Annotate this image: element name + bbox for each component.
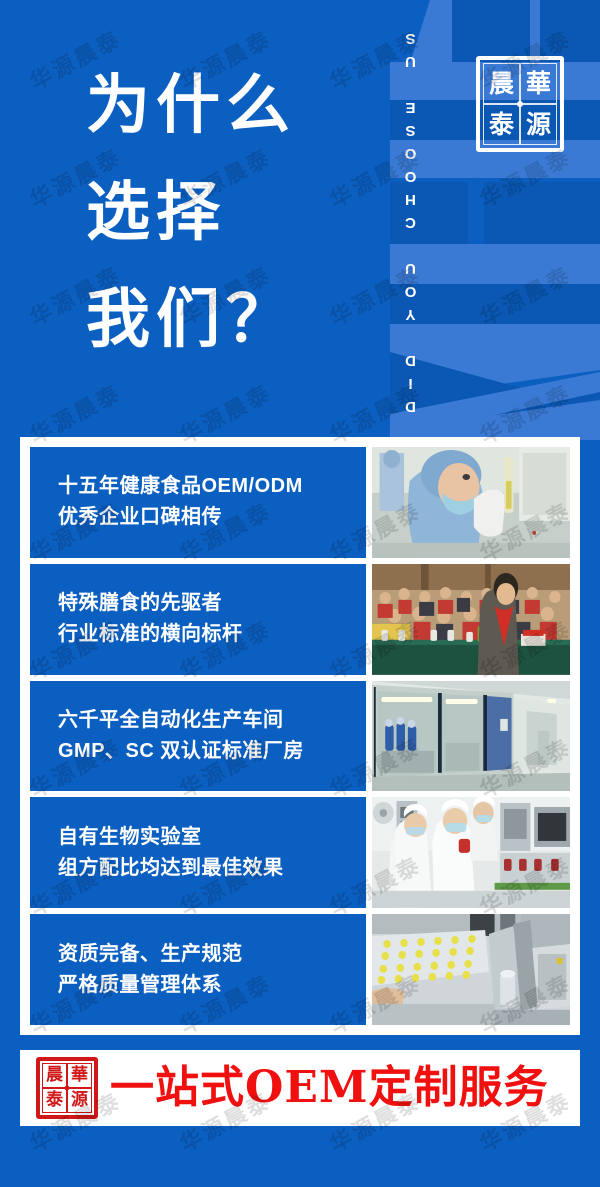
feature-cards-frame: 十五年健康食品OEM/ODM 优秀企业口碑相传	[20, 437, 580, 1035]
card-line-2: 行业标准的横向标杆	[58, 619, 366, 650]
card-text-block: 特殊膳食的先驱者 行业标准的横向标杆	[30, 564, 366, 675]
seal-char-2: 華	[67, 1063, 92, 1088]
banner-headline: 一站式OEM定制服务	[110, 1066, 549, 1110]
photo-cleanroom-svg	[372, 681, 570, 792]
seal-char-1: 晨	[483, 63, 520, 104]
seal-char-3: 泰	[42, 1088, 67, 1113]
seal-char-4: 源	[520, 104, 557, 145]
poster-root: 为什么 选择 我们？ DID YOU CHOOSE US 晨 華 泰 源 十五年…	[0, 0, 600, 1187]
feature-card: 自有生物实验室 组方配比均达到最佳效果	[30, 797, 570, 908]
card-text-block: 自有生物实验室 组方配比均达到最佳效果	[30, 797, 366, 908]
header-section: 为什么 选择 我们？ DID YOU CHOOSE US 晨 華 泰 源	[0, 0, 600, 437]
brand-seal-red: 晨 華 泰 源	[36, 1057, 98, 1119]
feature-card: 资质完备、生产规范 严格质量管理体系	[30, 914, 570, 1025]
photo-production-line-svg	[372, 797, 570, 908]
vertical-english-subtitle: DID YOU CHOOSE US	[402, 20, 428, 420]
page-title: 为什么 选择 我们？	[86, 52, 386, 373]
card-photo-conference-audience	[372, 564, 570, 675]
card-line-1: 六千平全自动化生产车间	[58, 705, 366, 736]
card-text-block: 十五年健康食品OEM/ODM 优秀企业口碑相传	[30, 447, 366, 558]
card-line-2: 组方配比均达到最佳效果	[58, 853, 366, 884]
card-photo-lab-technician	[372, 447, 570, 558]
title-line-3: 我们？	[86, 266, 386, 373]
seal-char-2: 華	[520, 63, 557, 104]
card-photo-production-line-workers	[372, 797, 570, 908]
photo-lab-technician-svg	[372, 447, 570, 558]
photo-conference-svg	[372, 564, 570, 675]
seal-center-dot	[65, 1086, 70, 1091]
card-text-block: 资质完备、生产规范 严格质量管理体系	[30, 914, 366, 1025]
card-line-2: 优秀企业口碑相传	[58, 502, 366, 533]
card-line-1: 十五年健康食品OEM/ODM	[58, 471, 366, 502]
card-photo-cleanroom-corridor	[372, 681, 570, 792]
card-photo-blister-packaging	[372, 914, 570, 1025]
card-text-block: 六千平全自动化生产车间 GMP、SC 双认证标准厂房	[30, 681, 366, 792]
card-line-1: 资质完备、生产规范	[58, 939, 366, 970]
card-line-1: 特殊膳食的先驱者	[58, 588, 366, 619]
seal-char-1: 晨	[42, 1063, 67, 1088]
seal-center-dot	[517, 101, 523, 107]
title-line-1: 为什么	[86, 52, 386, 159]
feature-card: 特殊膳食的先驱者 行业标准的横向标杆	[30, 564, 570, 675]
seal-char-4: 源	[67, 1088, 92, 1113]
photo-blister-packaging-svg	[372, 914, 570, 1025]
brand-seal-white: 晨 華 泰 源	[476, 56, 564, 152]
title-line-2: 选择	[86, 159, 386, 266]
card-line-2: GMP、SC 双认证标准厂房	[58, 736, 366, 767]
feature-card: 六千平全自动化生产车间 GMP、SC 双认证标准厂房	[30, 681, 570, 792]
card-line-1: 自有生物实验室	[58, 822, 366, 853]
card-line-2: 严格质量管理体系	[58, 970, 366, 1001]
bottom-service-banner: 晨 華 泰 源 一站式OEM定制服务	[20, 1050, 580, 1126]
seal-char-3: 泰	[483, 104, 520, 145]
feature-card: 十五年健康食品OEM/ODM 优秀企业口碑相传	[30, 447, 570, 558]
